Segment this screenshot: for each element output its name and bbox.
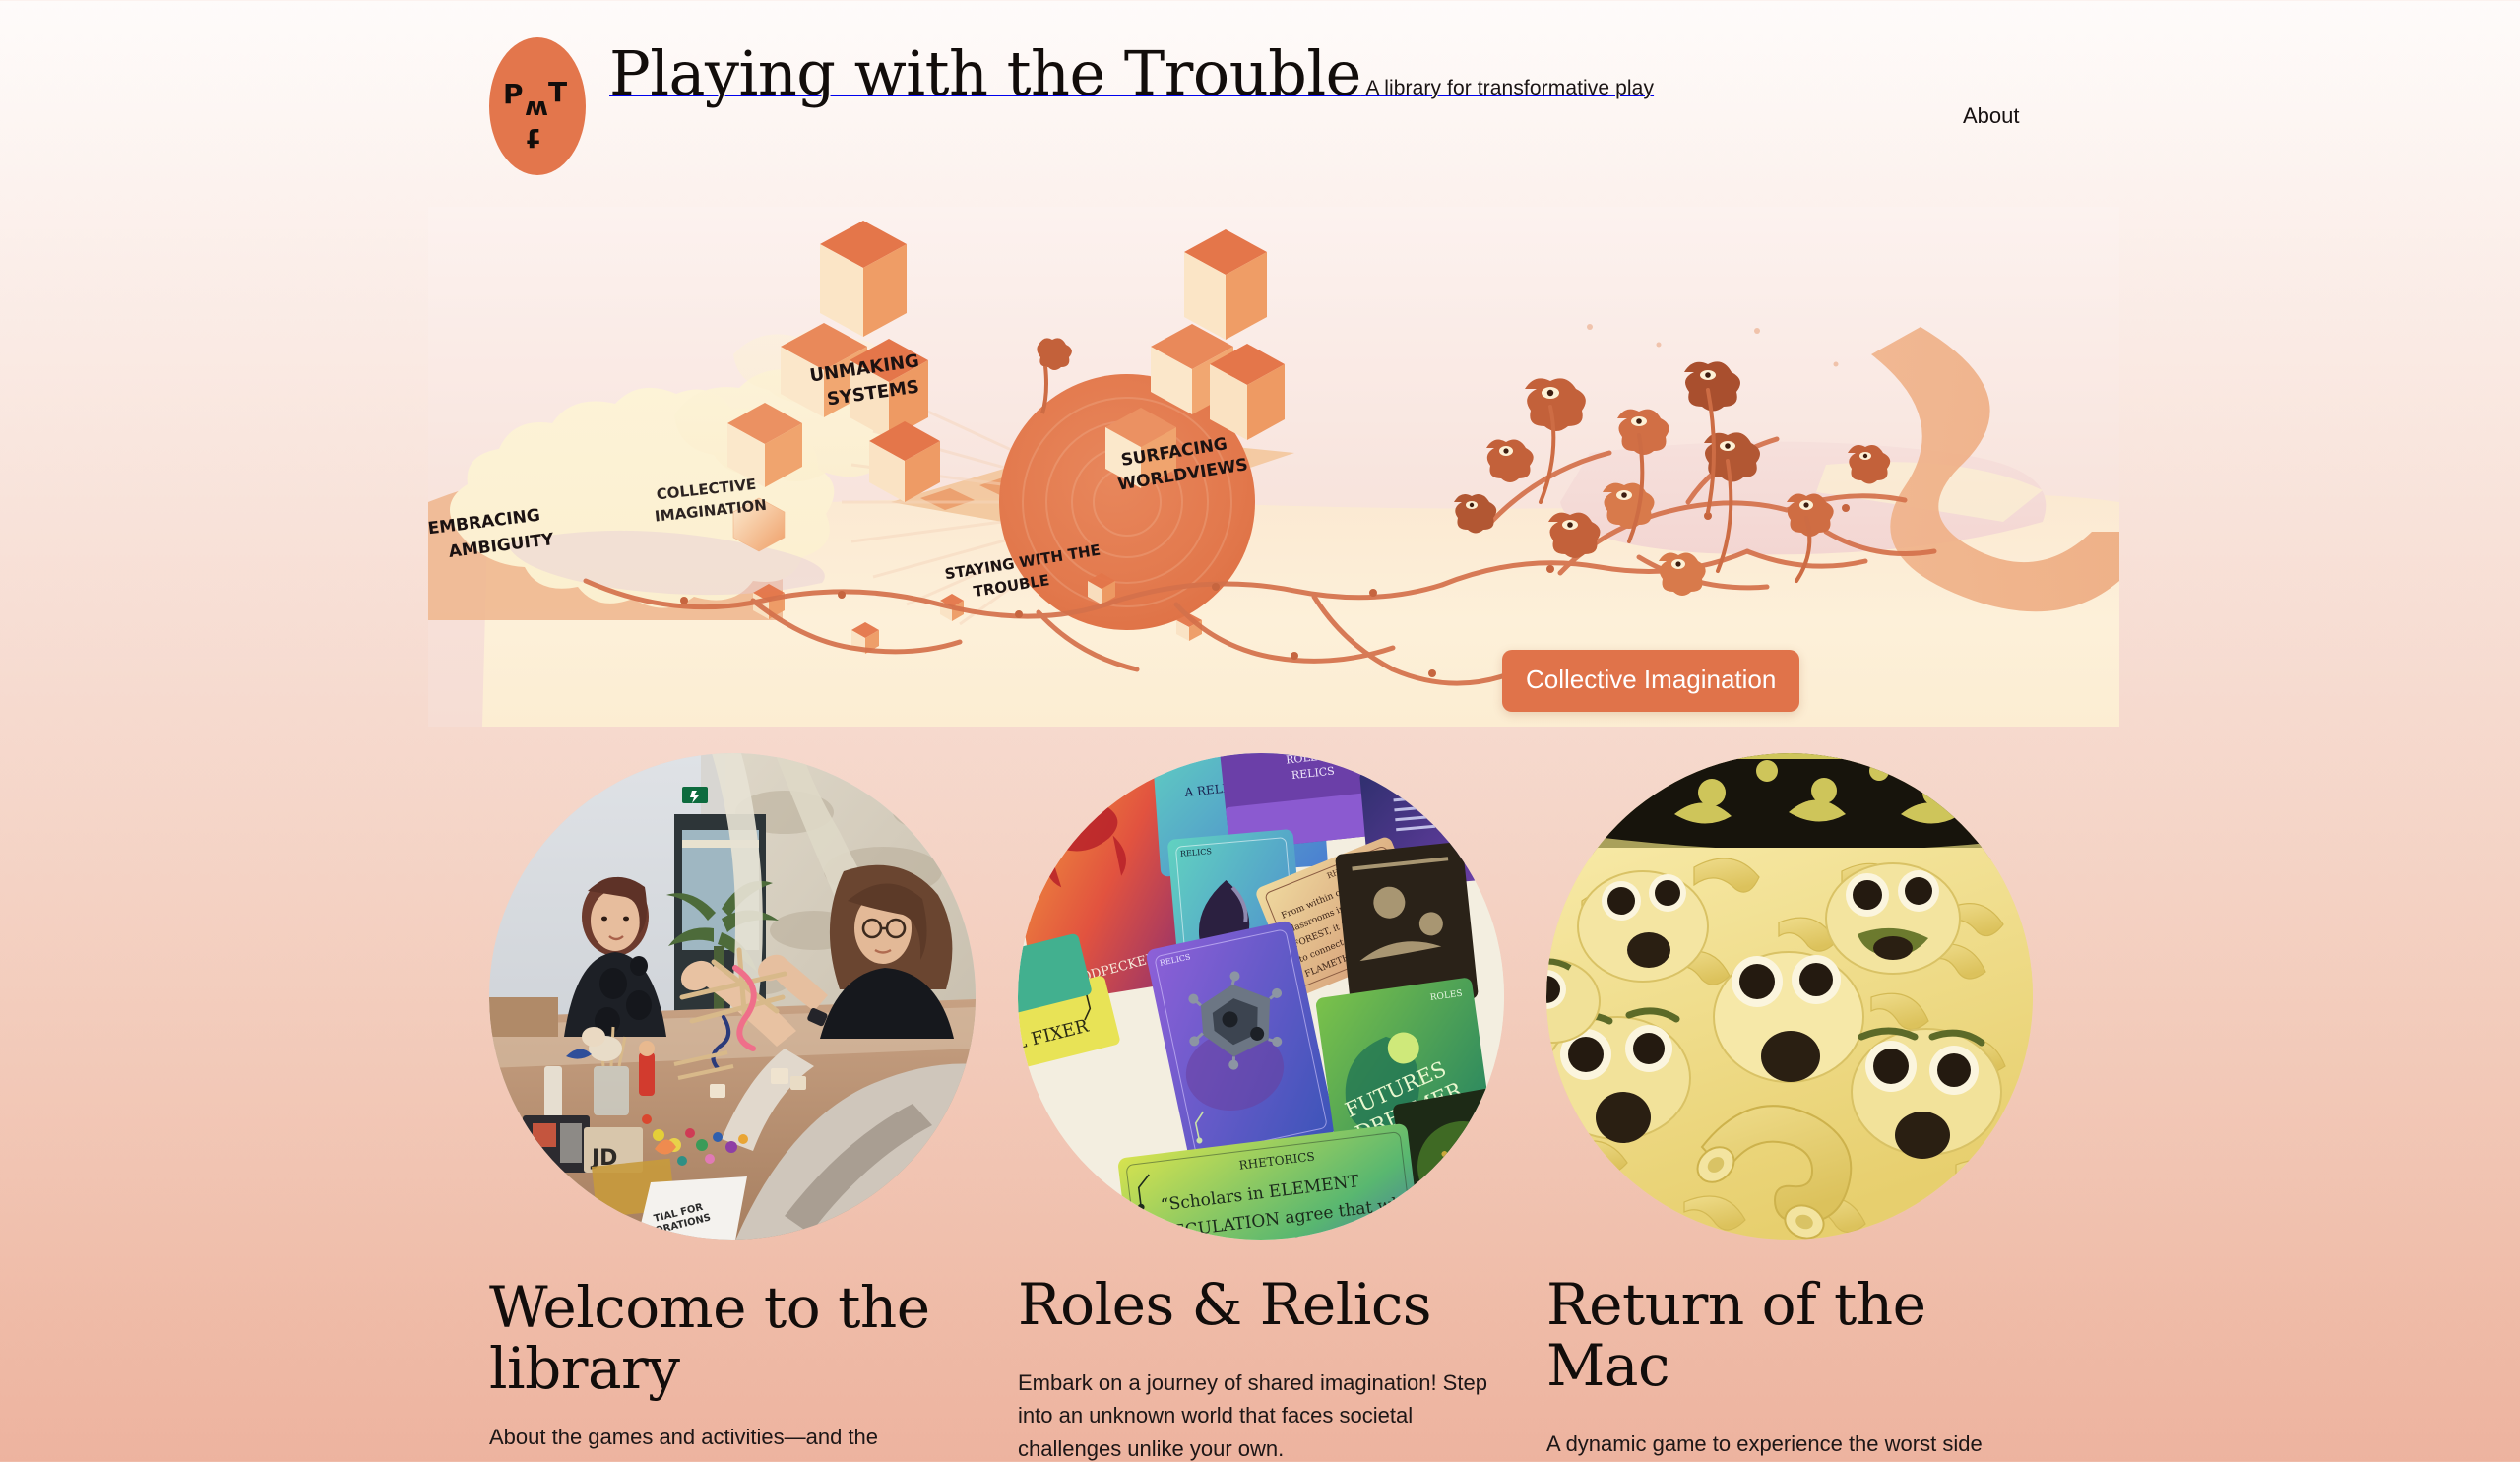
card-body: Embark on a journey of shared imaginatio… — [1018, 1367, 1505, 1462]
person-right — [820, 865, 954, 1039]
pasta-face-center — [1714, 952, 1863, 1082]
card-return-of-the-mac[interactable]: Return of the Mac A dynamic game to expe… — [1546, 753, 2034, 1462]
card-roles-and-relics[interactable]: WOODPECKER A RELIC ROLES & RELICS — [1018, 753, 1505, 1462]
site-tagline: A library for transformative play — [1365, 77, 1654, 99]
hero-tooltip-collective-imagination[interactable]: Collective Imagination — [1502, 650, 1799, 712]
card-title: Roles & Relics — [1018, 1274, 1505, 1335]
card-image-workshop[interactable]: JD TIAL FOR BORATIONS — [489, 753, 976, 1240]
card-image-cards-spread[interactable]: WOODPECKER A RELIC ROLES & RELICS — [1018, 753, 1505, 1240]
card-welcome-to-the-library[interactable]: JD TIAL FOR BORATIONS — [489, 753, 976, 1462]
page-title: Playing with the Trouble — [609, 37, 1361, 109]
pasta-face-top-left — [1578, 871, 1708, 982]
brand-text: Playing with the Trouble A library for t… — [609, 37, 1654, 105]
hero-map-svg: EMBRACING AMBIGUITY UNMAKING SYSTEMS COL… — [428, 207, 2119, 727]
macaroni-photo — [1546, 753, 2034, 1240]
logo-letter-p: P — [503, 81, 524, 108]
pasta-face-top-right — [1826, 863, 1960, 974]
card-image-macaroni-faces[interactable] — [1546, 753, 2034, 1240]
card-title: Welcome to the library — [489, 1277, 976, 1399]
roles-relics-photo: WOODPECKER A RELIC ROLES & RELICS — [1018, 753, 1505, 1240]
logo-letter-t-lower: t — [527, 124, 539, 152]
card-body: A dynamic game to experience the worst s… — [1546, 1428, 2034, 1460]
card-body: About the games and activities—and the — [489, 1421, 976, 1453]
nav-item-about[interactable]: About — [1963, 103, 2020, 129]
red-figure — [639, 1041, 655, 1096]
site-header: P w T t Playing with the Trouble A libra… — [0, 0, 2520, 197]
featured-cards: JD TIAL FOR BORATIONS — [489, 753, 2033, 1462]
hero-illustration[interactable]: EMBRACING AMBIGUITY UNMAKING SYSTEMS COL… — [428, 207, 2119, 727]
logo-letter-t: T — [548, 79, 567, 106]
logo-letter-w: w — [525, 96, 548, 122]
card-title: Return of the Mac — [1546, 1274, 2034, 1396]
brand-logo-link[interactable]: P w T t Playing with the Trouble A libra… — [489, 37, 1654, 175]
pwt-monogram-icon: P w T t — [489, 37, 586, 175]
workshop-photo: JD TIAL FOR BORATIONS — [489, 753, 976, 1240]
